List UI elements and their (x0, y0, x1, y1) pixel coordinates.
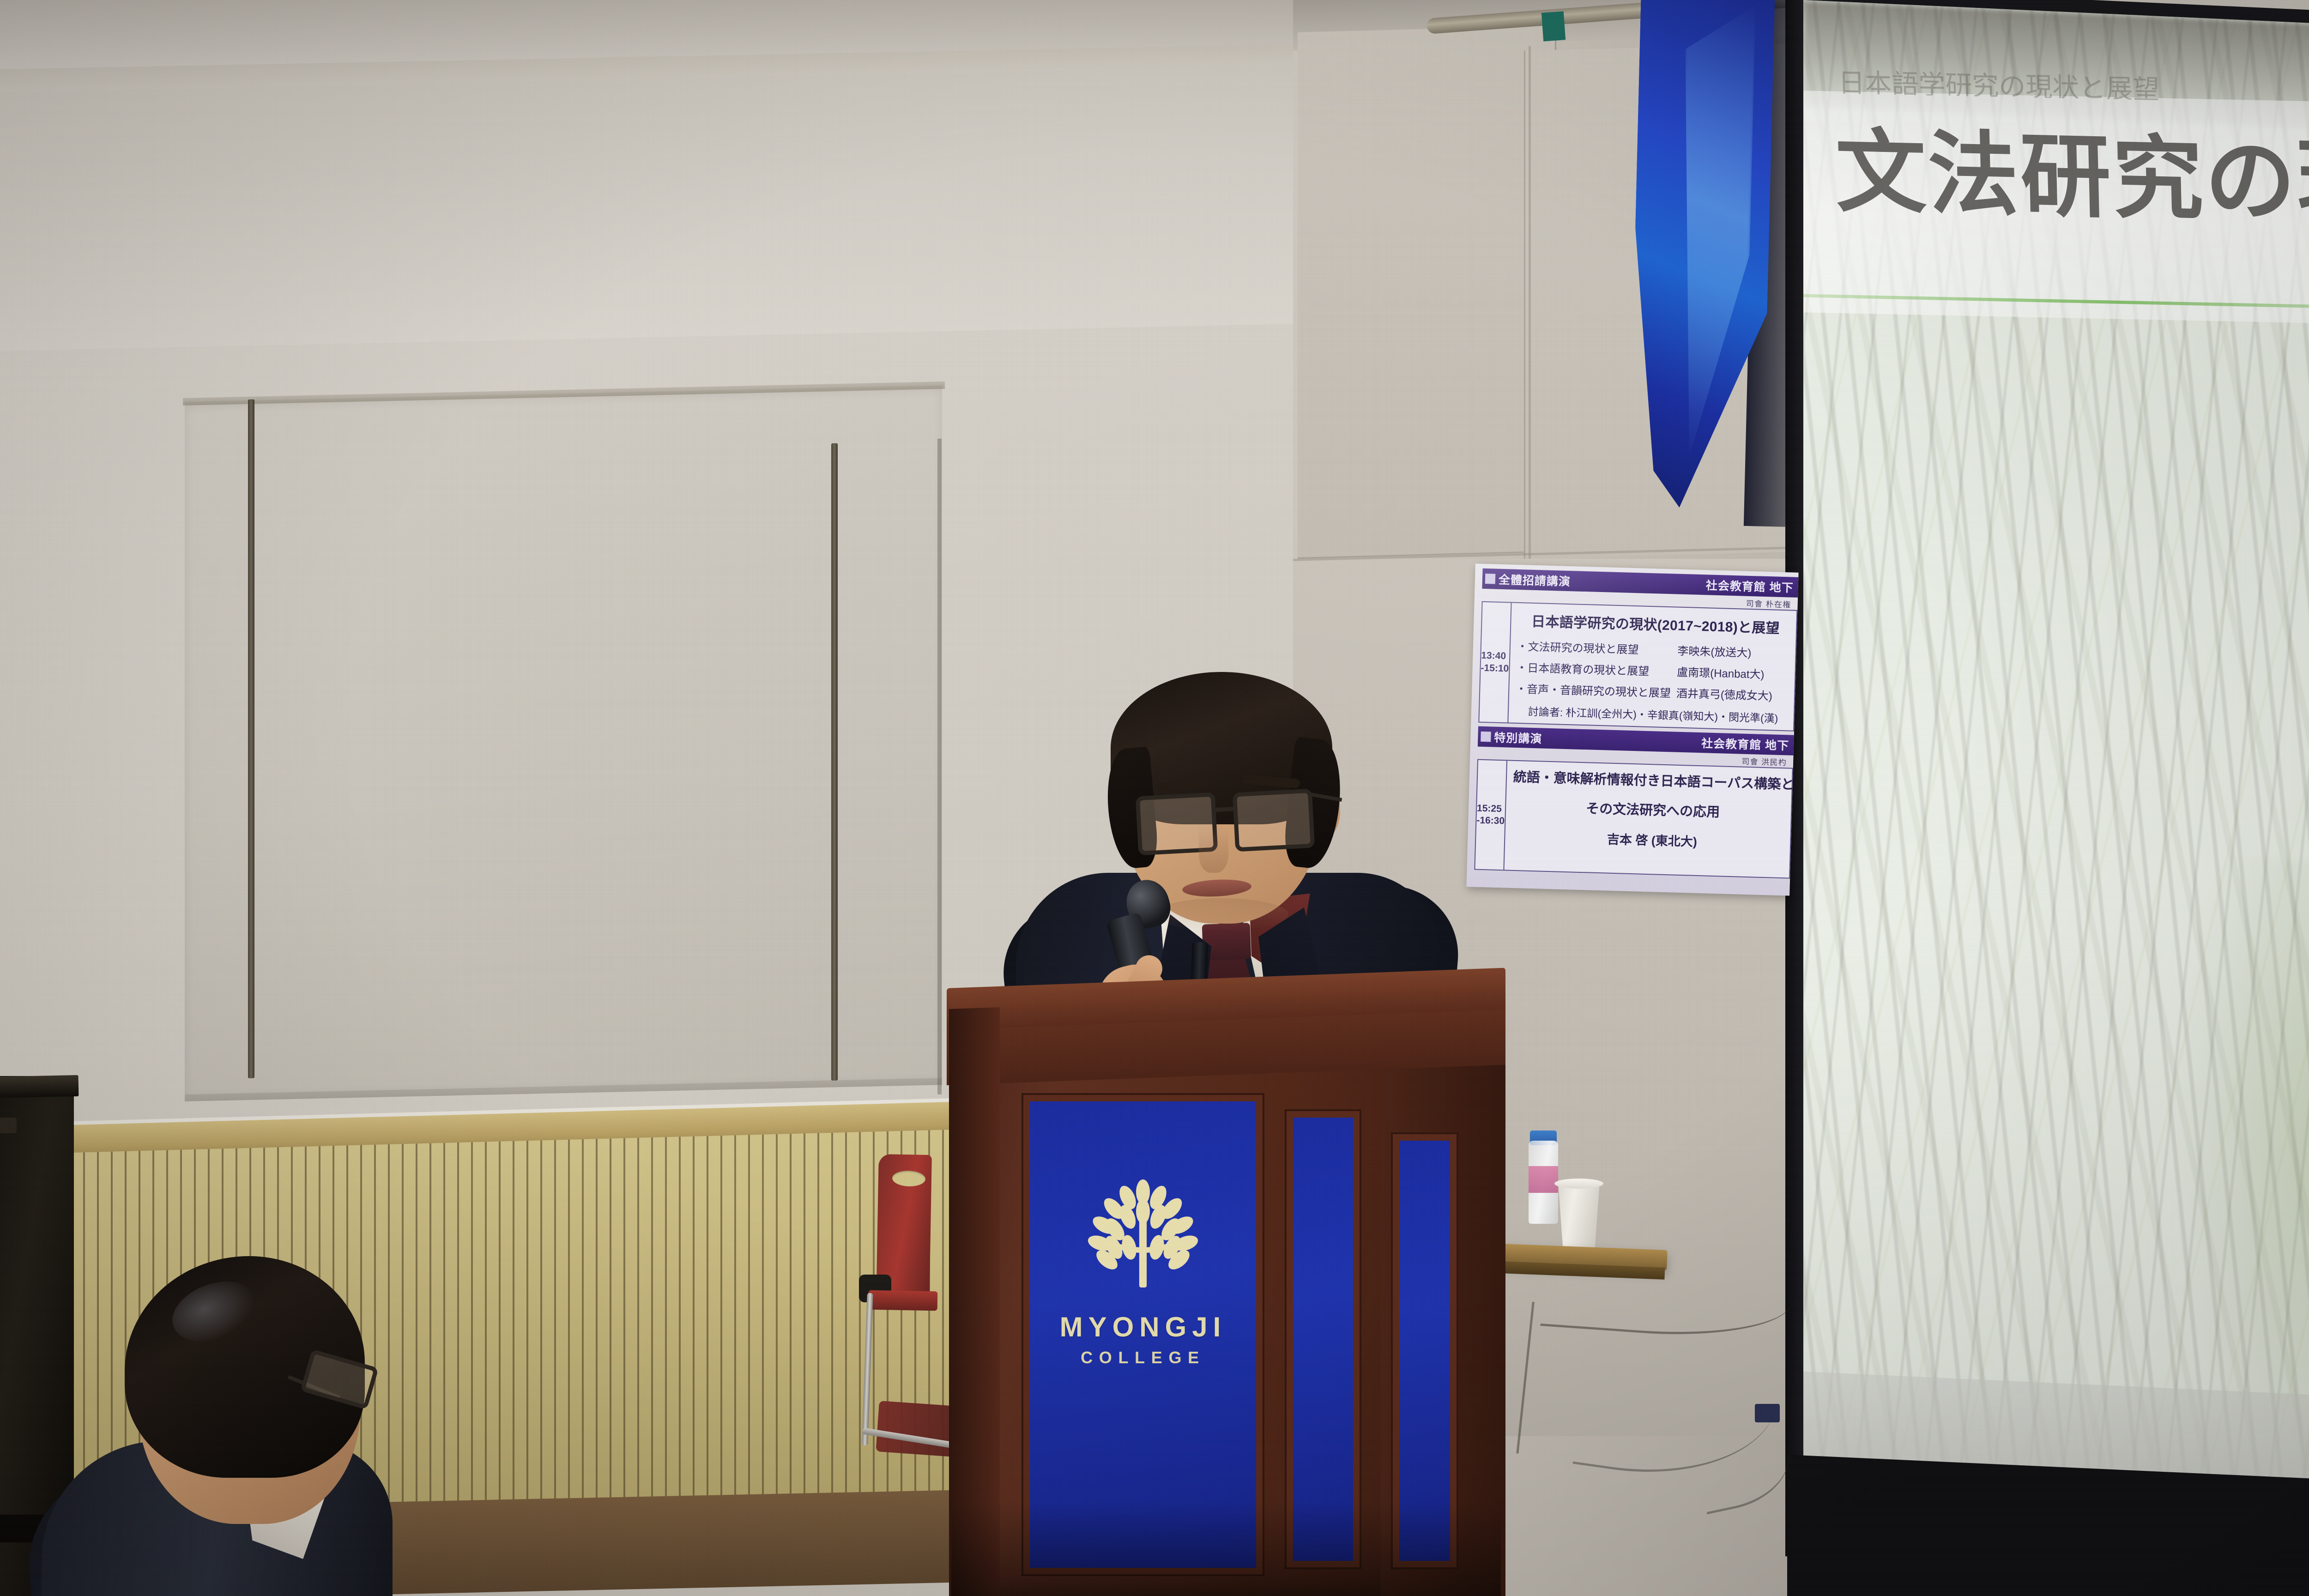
piano-lid (0, 1075, 79, 1098)
speaker-chin-shadow (1154, 898, 1288, 931)
speaker-glasses-lens-right (1233, 789, 1315, 852)
poster-section-1-time: 13:40 -15:10 (1479, 602, 1511, 723)
projection-screen: 日本語学研究の現状と展望 文法研究の現 (1803, 0, 2309, 1551)
piano-hinge (0, 1118, 17, 1133)
poster-talk-speaker: 李映朱(放送大) (1677, 642, 1793, 661)
wall-program-poster: 全體招請講演 社会教育館 地下 司會 朴在権 13:40 -15:10 日本語学… (1466, 563, 1798, 895)
poster-section-1-body: 13:40 -15:10 日本語学研究の現状(2017~2018)と展望 ・文法… (1478, 601, 1797, 731)
chair-seat (868, 1290, 938, 1311)
tree-logo-icon (1074, 1168, 1212, 1307)
logo-college-name: MYONGJI (1060, 1313, 1227, 1341)
poster-section-2-main: 統語・意味解析情報付き日本語コーパス構築と その文法研究への応用 吉本 啓 (東… (1504, 761, 1798, 878)
poster-section-2-label: 特別講演 (1494, 729, 1542, 747)
conference-lecture-photo: 日本語学研究の現状と展望 文法研究の現 全體招請講演 社会教育館 地下 司會 朴… (0, 0, 2309, 1596)
poster-section-2-speaker: 吉本 啓 (東北大) (1511, 827, 1793, 852)
poster-talk-title: ・音声・音韻研究の現状と展望 (1516, 680, 1671, 700)
poster-section-1-panelists: 討論者: 朴江訓(全州大)・辛銀真(嶺知大)・閔光準(漢) (1515, 702, 1791, 726)
podium-panel-middle (1293, 1118, 1353, 1561)
poster-section-2-room: 社会教育館 地下 (1701, 734, 1789, 753)
poster-talk-title: ・日本語教育の現状と展望 (1516, 659, 1672, 679)
poster-section-1-label: 全體招請講演 (1498, 571, 1571, 589)
poster-row: ・日本語教育の現状と展望 盧南璟(Hanbat大) (1516, 659, 1793, 683)
whiteboard (185, 385, 942, 1094)
poster-talk-speaker: 酒井真弓(徳成女大) (1676, 684, 1792, 704)
poster-section-2-title-line1: 統語・意味解析情報付き日本語コーパス構築と (1513, 768, 1795, 795)
paper-cup (1556, 1181, 1602, 1251)
podium-base-shadow (951, 1501, 1501, 1596)
poster-section-2: 特別講演 社会教育館 地下 司會 洪民杓 15:25 -16:30 統語・意味解… (1474, 726, 1794, 879)
projection-screen-bottom-bar (1787, 1455, 2309, 1596)
slide-title: 文法研究の現 (1835, 124, 2309, 234)
poster-talk-title: ・文法研究の現状と展望 (1517, 637, 1672, 658)
poster-section-1: 全體招請講演 社会教育館 地下 司會 朴在権 13:40 -15:10 日本語学… (1478, 568, 1798, 731)
wall-outlet (1755, 1404, 1780, 1422)
poster-section-2-time: 15:25 -16:30 (1475, 760, 1507, 870)
poster-bullet-square-icon (1485, 574, 1496, 584)
poster-section-2-title-line2: その文法研究への応用 (1512, 797, 1794, 824)
podium-panel-right (1399, 1141, 1450, 1561)
wall-upper-left (0, 65, 1330, 351)
poster-row: ・音声・音韻研究の現状と展望 酒井真弓(徳成女大) (1516, 680, 1792, 704)
poster-talk-speaker: 盧南璟(Hanbat大) (1677, 663, 1793, 683)
wall-panel-upper-left (1298, 25, 1556, 559)
logo-text-block: MYONGJI COLLEGE (1060, 1313, 1227, 1366)
whiteboard-hanger-right (831, 443, 838, 1081)
pipe-clamp-icon (1541, 11, 1566, 41)
poster-bullet-square-icon (1481, 731, 1491, 742)
poster-section-2-body: 15:25 -16:30 統語・意味解析情報付き日本語コーパス構築と その文法研… (1474, 759, 1793, 879)
poster-row: ・文法研究の現状と展望 李映朱(放送大) (1517, 637, 1793, 661)
poster-section-1-room: 社会教育館 地下 (1705, 576, 1794, 595)
whiteboard-edge-right (937, 439, 942, 1094)
speaker-nose (1199, 827, 1228, 873)
paper-cup-rim (1554, 1179, 1603, 1189)
water-bottle-label (1529, 1166, 1558, 1193)
logo-college-sub: COLLEGE (1060, 1349, 1227, 1366)
poster-section-1-main: 日本語学研究の現状(2017~2018)と展望 ・文法研究の現状と展望 李映朱(… (1508, 603, 1798, 731)
poster-section-1-title: 日本語学研究の現状(2017~2018)と展望 (1517, 610, 1794, 638)
whiteboard-hanger-left (248, 399, 254, 1078)
wall-seam-vertical (1529, 46, 1531, 568)
myongji-college-logo: MYONGJI COLLEGE (1041, 1168, 1245, 1390)
